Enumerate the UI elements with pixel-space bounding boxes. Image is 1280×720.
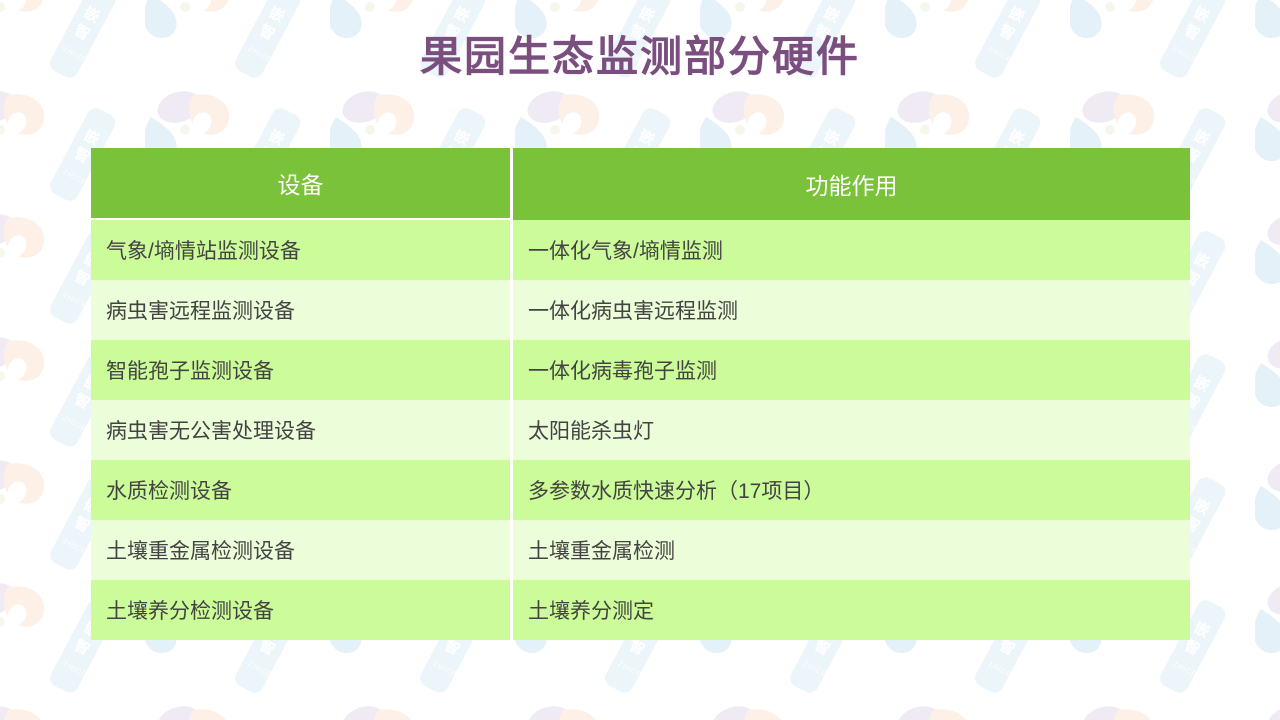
table-row: 土壤养分检测设备 土壤养分测定: [91, 580, 1190, 640]
cell-function: 土壤养分测定: [513, 580, 1190, 640]
table-row: 水质检测设备 多参数水质快速分析（17项目）: [91, 460, 1190, 520]
cell-device: 土壤重金属检测设备: [91, 520, 510, 580]
cell-device: 水质检测设备: [91, 460, 510, 520]
cell-function: 一体化病毒孢子监测: [513, 340, 1190, 400]
slide-content: 果园生态监测部分硬件 设备 功能作用 气象/墒情站监测设备 一体化气象/墒情监测…: [0, 0, 1280, 720]
hardware-table: 设备 功能作用 气象/墒情站监测设备 一体化气象/墒情监测 病虫害远程监测设备 …: [91, 148, 1190, 640]
cell-function: 多参数水质快速分析（17项目）: [513, 460, 1190, 520]
cell-function: 一体化气象/墒情监测: [513, 220, 1190, 280]
table-body: 气象/墒情站监测设备 一体化气象/墒情监测 病虫害远程监测设备 一体化病虫害远程…: [91, 220, 1190, 640]
page-title: 果园生态监测部分硬件: [0, 32, 1280, 82]
cell-device: 智能孢子监测设备: [91, 340, 510, 400]
table-header: 设备 功能作用: [91, 148, 1190, 220]
table-row: 智能孢子监测设备 一体化病毒孢子监测: [91, 340, 1190, 400]
column-header-device: 设备: [91, 148, 510, 220]
table-row: 土壤重金属检测设备 土壤重金属检测: [91, 520, 1190, 580]
cell-device: 病虫害远程监测设备: [91, 280, 510, 340]
cell-device: 土壤养分检测设备: [91, 580, 510, 640]
cell-function: 一体化病虫害远程监测: [513, 280, 1190, 340]
table-row: 病虫害远程监测设备 一体化病虫害远程监测: [91, 280, 1190, 340]
table-header-row: 设备 功能作用: [91, 148, 1190, 220]
cell-device: 气象/墒情站监测设备: [91, 220, 510, 280]
column-header-function: 功能作用: [513, 148, 1190, 220]
table-row: 气象/墒情站监测设备 一体化气象/墒情监测: [91, 220, 1190, 280]
cell-function: 太阳能杀虫灯: [513, 400, 1190, 460]
cell-function: 土壤重金属检测: [513, 520, 1190, 580]
cell-device: 病虫害无公害处理设备: [91, 400, 510, 460]
table-row: 病虫害无公害处理设备 太阳能杀虫灯: [91, 400, 1190, 460]
